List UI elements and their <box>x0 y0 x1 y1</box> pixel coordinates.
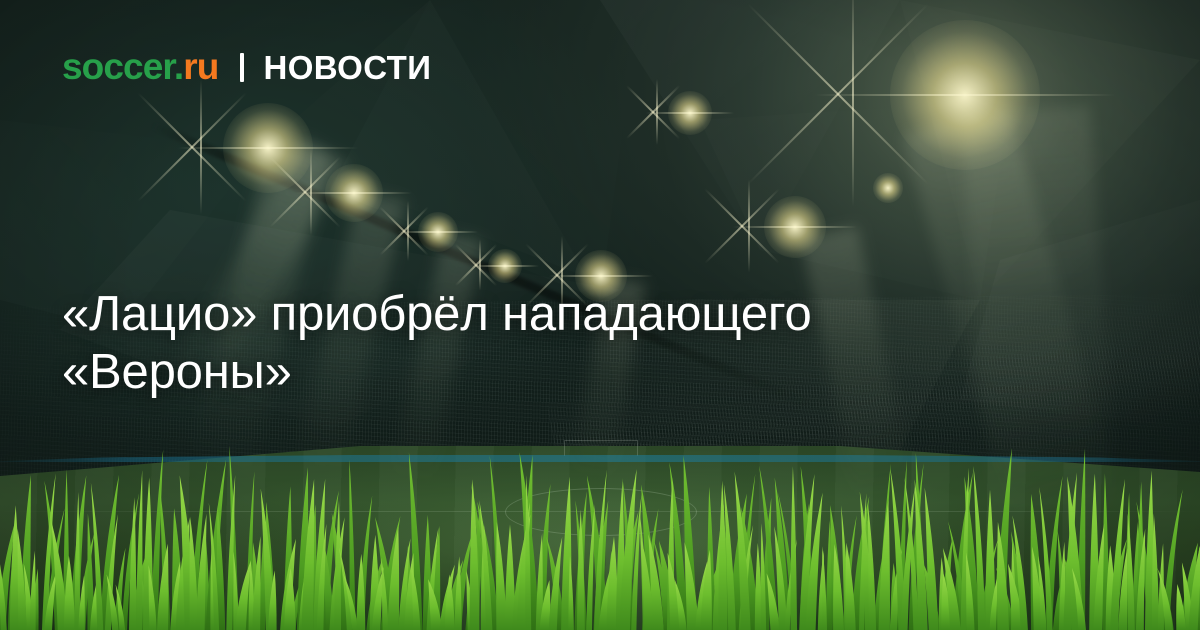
logo-text-soccer: soccer <box>62 46 174 87</box>
news-share-card: soccer.ru НОВОСТИ «Лацио» приобрёл напад… <box>0 0 1200 630</box>
section-label-news: НОВОСТИ <box>263 51 431 84</box>
headline-line-1: «Лацио» приобрёл нападающего <box>62 285 1072 343</box>
foreground-grass <box>0 415 1200 630</box>
header-separator <box>240 53 244 82</box>
logo-text-dot: . <box>174 46 183 87</box>
headline-line-2: «Вероны» <box>62 343 1072 401</box>
site-header: soccer.ru НОВОСТИ <box>62 48 431 85</box>
logo-text-ru: ru <box>183 46 218 87</box>
soccer-ru-logo[interactable]: soccer.ru <box>62 48 218 85</box>
article-headline: «Лацио» приобрёл нападающего «Вероны» <box>62 285 1072 402</box>
